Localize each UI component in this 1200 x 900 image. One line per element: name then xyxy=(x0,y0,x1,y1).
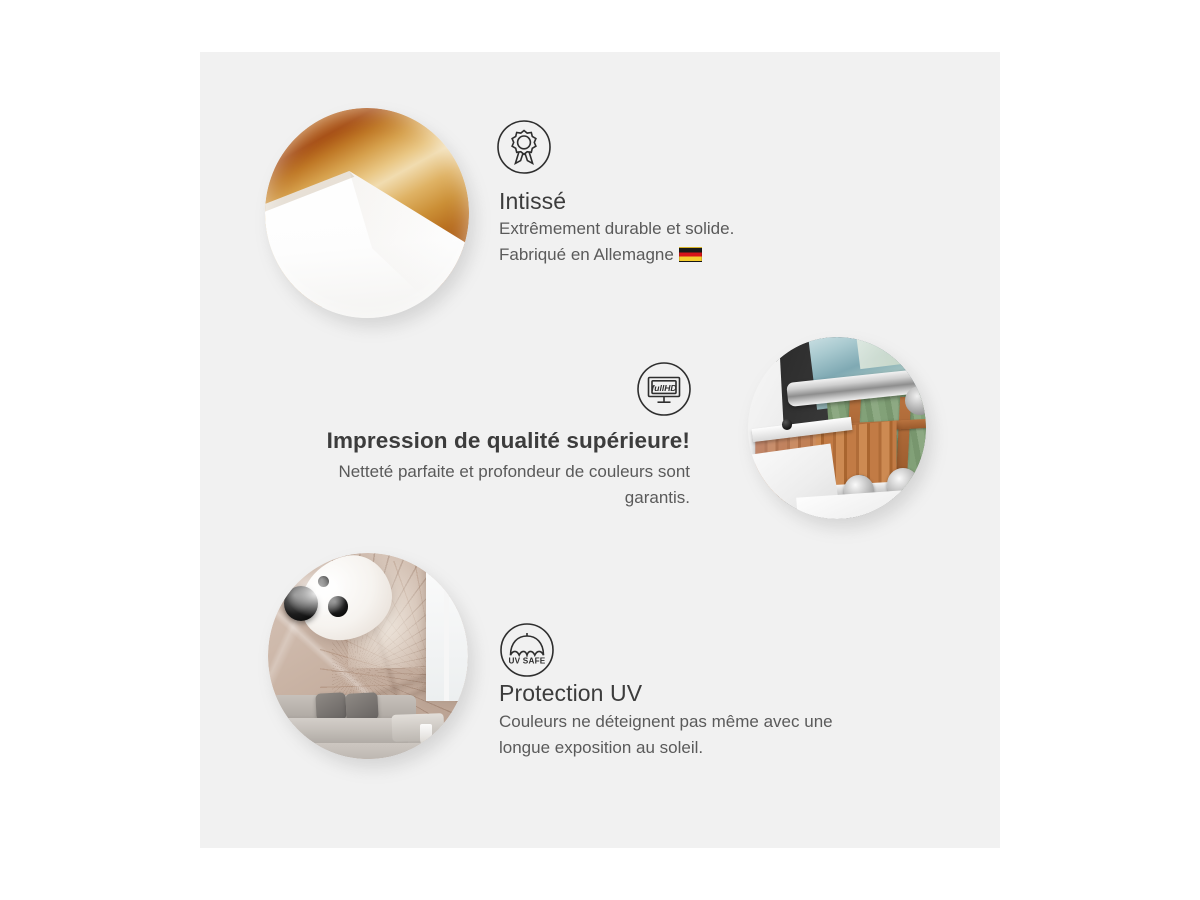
feature-body-line: garantis. xyxy=(280,485,690,511)
feature-body-line: Extrêmement durable et solide. xyxy=(499,216,734,242)
feature-title-nonwoven: Intissé xyxy=(499,188,566,215)
sofa-cushion xyxy=(345,692,378,720)
large-format-printer-photo xyxy=(748,337,926,519)
page-canvas: Intissé Extrêmement durable et solide. F… xyxy=(0,0,1200,900)
photo-inner xyxy=(265,108,469,318)
floor xyxy=(268,743,468,759)
fullhd-label: fullHD xyxy=(651,383,676,393)
feature-title-uv-protection: Protection UV xyxy=(499,680,642,707)
german-flag-icon xyxy=(679,247,702,262)
feature-body-nonwoven: Extrêmement durable et solide. Fabriqué … xyxy=(499,216,734,268)
feature-body-line-with-flag: Fabriqué en Allemagne xyxy=(499,242,734,268)
fullhd-monitor-icon: fullHD xyxy=(636,361,692,417)
feature-body-print-quality: Netteté parfaite et profondeur de couleu… xyxy=(280,459,690,511)
feature-body-line-text: Fabriqué en Allemagne xyxy=(499,245,674,264)
photo-inner xyxy=(748,337,926,519)
feature-body-uv-protection: Couleurs ne déteignent pas même avec une… xyxy=(499,709,833,761)
photo-inner xyxy=(268,553,468,759)
uv-safe-label: UV SAFE xyxy=(509,657,546,666)
wallpaper-roll-peeled-corner-photo xyxy=(265,108,469,318)
uv-safe-umbrella-icon: UV SAFE xyxy=(499,622,555,678)
lens-flare xyxy=(284,565,352,619)
feature-body-line: longue exposition au soleil. xyxy=(499,735,833,761)
feature-body-line: Couleurs ne déteignent pas même avec une xyxy=(499,709,833,735)
photo-vignette xyxy=(265,108,469,318)
ottoman xyxy=(392,713,445,742)
living-room-geometric-mural-photo xyxy=(268,553,468,759)
feature-body-line: Netteté parfaite et profondeur de couleu… xyxy=(280,459,690,485)
sofa-cushion xyxy=(315,692,346,720)
award-badge-icon xyxy=(496,119,552,175)
feature-title-print-quality: Impression de qualité supérieure! xyxy=(327,428,690,454)
window-mullion xyxy=(444,561,449,701)
